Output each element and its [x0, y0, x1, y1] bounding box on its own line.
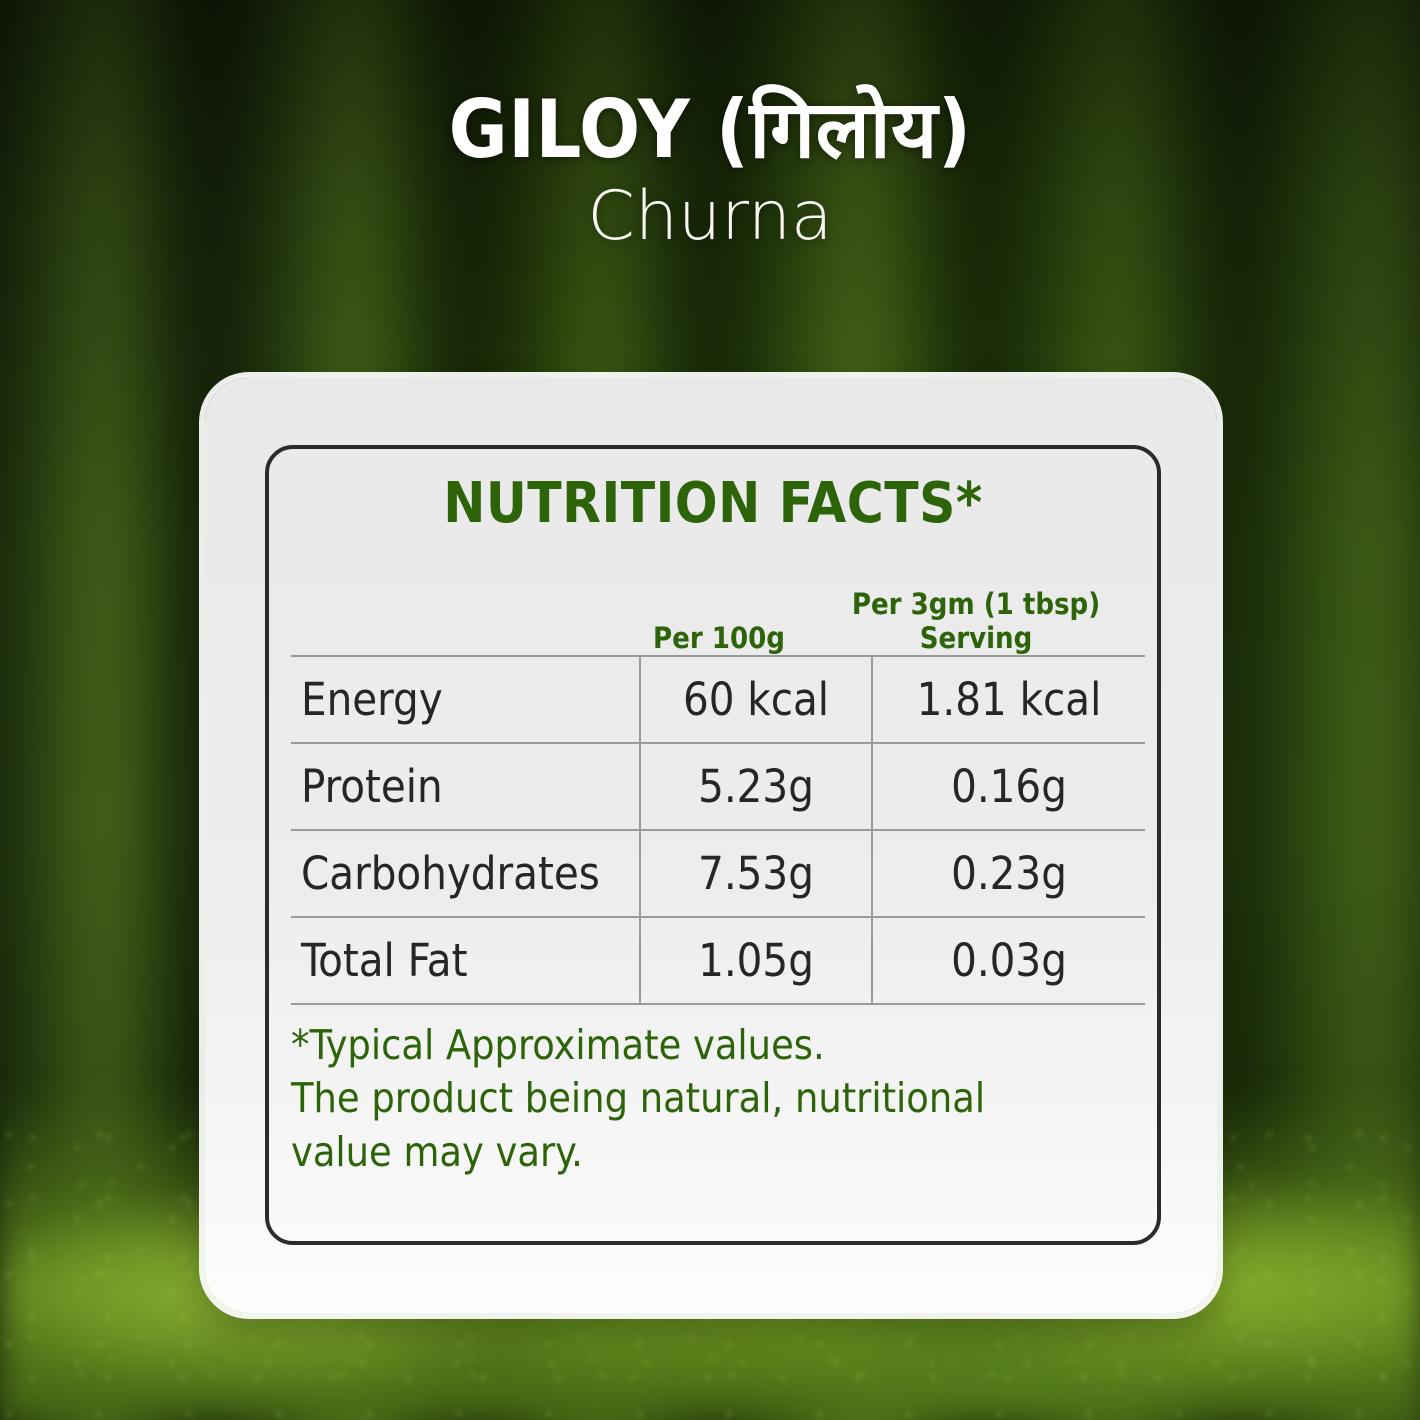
row-value-carbohydrates-per-100g: 7.53g [640, 830, 872, 917]
table-column-headers: Per 100g Per 3gm (1 tbsp) Serving [291, 549, 1135, 655]
row-value-carbohydrates-per-serving: 0.23g [872, 830, 1145, 917]
row-value-protein-per-100g: 5.23g [640, 743, 872, 830]
nutrition-footnote: *Typical Approximate values. The product… [291, 1019, 1121, 1179]
row-value-energy-per-100g: 60 kcal [640, 656, 872, 743]
row-label-energy: Energy [291, 656, 640, 743]
row-label-protein: Protein [291, 743, 640, 830]
column-header-per-100g: Per 100g [609, 622, 829, 655]
row-label-carbohydrates: Carbohydrates [291, 830, 640, 917]
nutrition-card: NUTRITION FACTS* Per 100g Per 3gm (1 tbs… [205, 378, 1217, 1313]
table-row: Energy 60 kcal 1.81 kcal [291, 656, 1145, 743]
row-value-total-fat-per-100g: 1.05g [640, 917, 872, 1004]
product-subtitle: Churna [0, 171, 1420, 251]
product-title-block: GILOY (गिलोय) Churna [0, 0, 1420, 251]
nutrition-panel: NUTRITION FACTS* Per 100g Per 3gm (1 tbs… [265, 445, 1161, 1245]
nutrition-table: Energy 60 kcal 1.81 kcal Protein 5.23g 0… [291, 655, 1145, 1005]
column-header-per-serving: Per 3gm (1 tbsp) Serving [831, 588, 1121, 655]
nutrition-facts-heading: NUTRITION FACTS* [269, 449, 1157, 536]
row-value-total-fat-per-serving: 0.03g [872, 917, 1145, 1004]
product-title: GILOY (गिलोय) [0, 0, 1420, 171]
table-row: Total Fat 1.05g 0.03g [291, 917, 1145, 1004]
row-label-total-fat: Total Fat [291, 917, 640, 1004]
table-row: Carbohydrates 7.53g 0.23g [291, 830, 1145, 917]
table-row: Protein 5.23g 0.16g [291, 743, 1145, 830]
row-value-protein-per-serving: 0.16g [872, 743, 1145, 830]
row-value-energy-per-serving: 1.81 kcal [872, 656, 1145, 743]
product-label-canvas: GILOY (गिलोय) Churna NUTRITION FACTS* Pe… [0, 0, 1420, 1420]
